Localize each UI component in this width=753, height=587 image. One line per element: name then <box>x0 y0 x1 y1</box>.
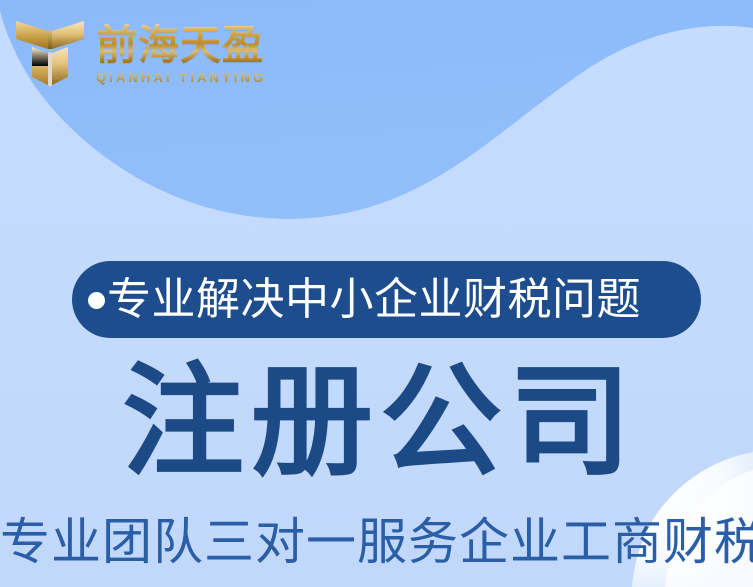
bullet-dot-icon <box>88 292 105 309</box>
subtitle-text: 专业团队三对一服务企业工商财税 <box>0 512 753 572</box>
brand-name-pinyin: QIANHAI TIANYING <box>96 70 266 86</box>
headline-text: 专业解决中小企业财税问题 <box>107 275 641 325</box>
folded-t-mark-icon <box>14 15 86 91</box>
brand-text: 前海天盈 QIANHAI TIANYING <box>96 21 266 86</box>
headline-pill[interactable]: 专业解决中小企业财税问题 <box>72 261 701 338</box>
promo-poster: 前海天盈 QIANHAI TIANYING 专业解决中小企业财税问题 注册公司 … <box>0 0 753 587</box>
brand-name-cn: 前海天盈 <box>96 23 266 67</box>
page-title: 注册公司 <box>0 358 753 486</box>
brand-logo[interactable]: 前海天盈 QIANHAI TIANYING <box>14 12 266 94</box>
